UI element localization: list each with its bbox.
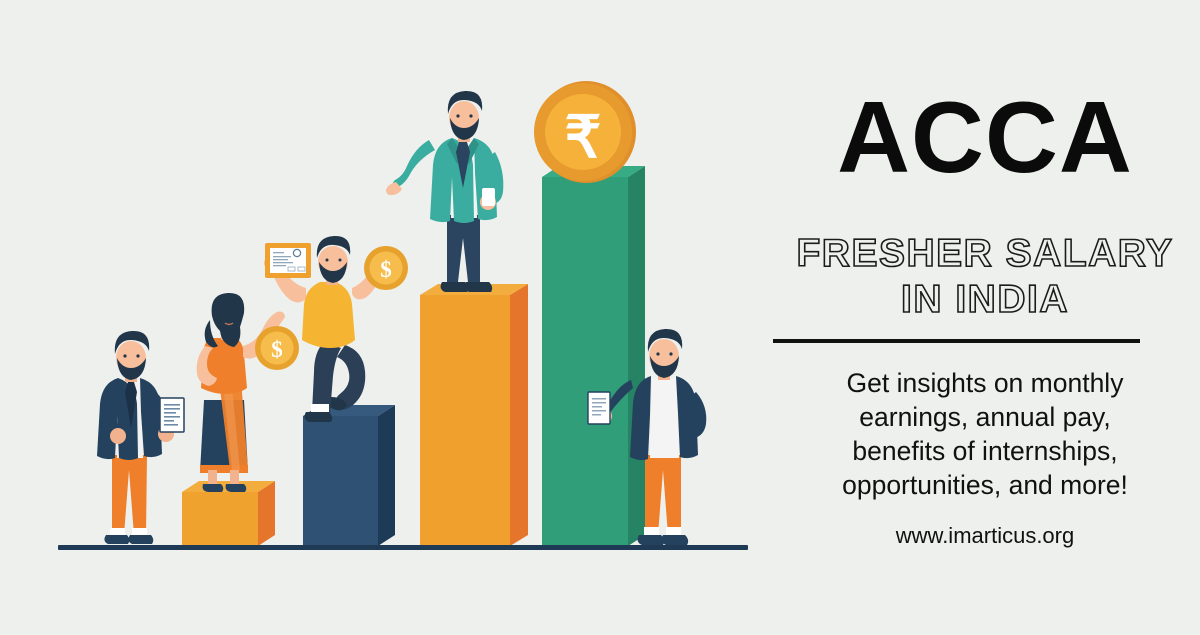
bar-4 [542, 166, 645, 546]
website-url: www.imarticus.org [770, 522, 1200, 550]
dollar-coin-man: $ [364, 246, 408, 290]
figure-woman-in-saree: $ [197, 293, 299, 492]
divider-rule [773, 339, 1140, 343]
blurb-text: Get insights on monthly earnings, annual… [770, 366, 1200, 502]
svg-text:₹: ₹ [565, 105, 602, 170]
text-panel: ACCA FRESHER SALARY IN INDIA Get insight… [770, 0, 1200, 630]
svg-text:$: $ [380, 257, 392, 282]
svg-text:$: $ [271, 337, 283, 362]
dollar-coin-woman: $ [255, 326, 299, 370]
rupee-coin: ₹ [534, 81, 636, 183]
page-title: ACCA [770, 88, 1200, 189]
blurb-line-4: opportunities, and more! [770, 468, 1200, 502]
subtitle-line-1: FRESHER SALARY [770, 232, 1200, 276]
subtitle-line-2: IN INDIA [770, 278, 1200, 322]
bar-2 [303, 405, 395, 546]
bar-chart-illustration: $ [0, 0, 770, 630]
ground-line [58, 545, 748, 550]
blurb-line-3: benefits of internships, [770, 434, 1200, 468]
blurb-line-2: earnings, annual pay, [770, 400, 1200, 434]
bar-3 [420, 284, 528, 546]
illustration-svg: $ [0, 0, 770, 630]
certificate [265, 243, 311, 278]
blurb-line-1: Get insights on monthly [770, 366, 1200, 400]
figure-man-with-document-left [97, 331, 184, 544]
infographic-banner: $ [0, 0, 1200, 630]
